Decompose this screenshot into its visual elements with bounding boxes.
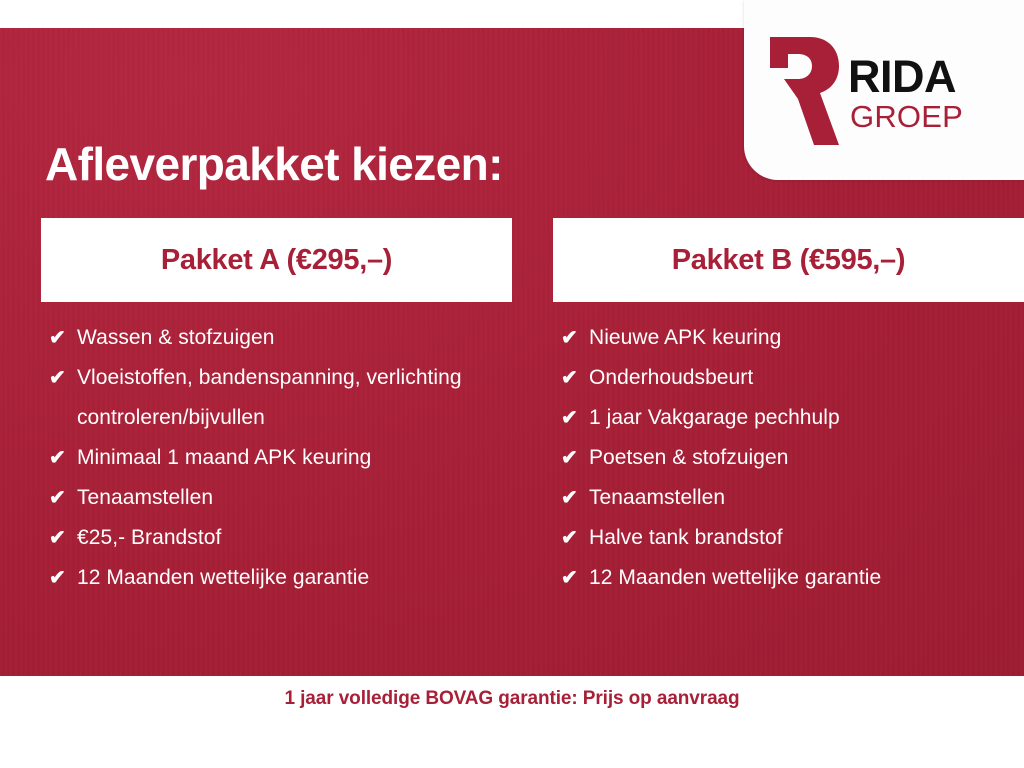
list-item: ✔ Tenaamstellen — [49, 478, 512, 518]
slide: Afleverpakket kiezen: Pakket A (€295,–) … — [0, 0, 1024, 768]
brand-subname: GROEP — [850, 101, 963, 132]
feature-label: Onderhoudsbeurt — [589, 358, 1024, 398]
feature-label: 12 Maanden wettelijke garantie — [77, 558, 512, 598]
list-item: ✔ 1 jaar Vakgarage pechhulp — [561, 398, 1024, 438]
package-column-b: Pakket B (€595,–) ✔ Nieuwe APK keuring ✔… — [553, 218, 1024, 598]
package-b-header: Pakket B (€595,–) — [553, 218, 1024, 302]
brand-wordmark: RIDA GROEP — [848, 50, 963, 132]
feature-label: Poetsen & stofzuigen — [589, 438, 1024, 478]
package-b-title: Pakket B (€595,–) — [672, 244, 906, 277]
feature-label: 1 jaar Vakgarage pechhulp — [589, 398, 1024, 438]
check-icon: ✔ — [561, 398, 589, 438]
check-icon: ✔ — [49, 438, 77, 478]
list-item: ✔ Nieuwe APK keuring — [561, 318, 1024, 358]
list-item: ✔ Wassen & stofzuigen — [49, 318, 512, 358]
check-icon: ✔ — [49, 318, 77, 358]
list-item: ✔ €25,- Brandstof — [49, 518, 512, 558]
list-item: ✔ Poetsen & stofzuigen — [561, 438, 1024, 478]
feature-label: Halve tank brandstof — [589, 518, 1024, 558]
list-item: ✔ Tenaamstellen — [561, 478, 1024, 518]
r-monogram-icon — [762, 35, 840, 147]
check-icon: ✔ — [561, 518, 589, 558]
packages-container: Pakket A (€295,–) ✔ Wassen & stofzuigen … — [0, 218, 1024, 598]
list-item: ✔ Minimaal 1 maand APK keuring — [49, 438, 512, 478]
list-item: ✔ Onderhoudsbeurt — [561, 358, 1024, 398]
feature-label: Nieuwe APK keuring — [589, 318, 1024, 358]
feature-label: Vloeistoffen, bandenspanning, verlichtin… — [77, 358, 512, 438]
feature-label: Minimaal 1 maand APK keuring — [77, 438, 512, 478]
feature-label: Tenaamstellen — [589, 478, 1024, 518]
brand-name: RIDA — [848, 54, 963, 99]
feature-label: Wassen & stofzuigen — [77, 318, 512, 358]
check-icon: ✔ — [561, 318, 589, 358]
package-b-feature-list: ✔ Nieuwe APK keuring ✔ Onderhoudsbeurt ✔… — [553, 318, 1024, 598]
brand-logo-plate: RIDA GROEP — [744, 0, 1024, 180]
check-icon: ✔ — [49, 558, 77, 598]
package-column-a: Pakket A (€295,–) ✔ Wassen & stofzuigen … — [41, 218, 512, 598]
check-icon: ✔ — [561, 438, 589, 478]
check-icon: ✔ — [49, 518, 77, 558]
package-a-header: Pakket A (€295,–) — [41, 218, 512, 302]
package-a-feature-list: ✔ Wassen & stofzuigen ✔ Vloeistoffen, ba… — [41, 318, 512, 598]
footer-banner: 1 jaar volledige BOVAG garantie: Prijs o… — [0, 676, 1024, 768]
check-icon: ✔ — [561, 558, 589, 598]
footer-text: 1 jaar volledige BOVAG garantie: Prijs o… — [284, 688, 739, 710]
check-icon: ✔ — [561, 358, 589, 398]
check-icon: ✔ — [49, 478, 77, 518]
brand-logo: RIDA GROEP — [762, 32, 1010, 150]
feature-label: €25,- Brandstof — [77, 518, 512, 558]
list-item: ✔ 12 Maanden wettelijke garantie — [49, 558, 512, 598]
check-icon: ✔ — [561, 478, 589, 518]
feature-label: 12 Maanden wettelijke garantie — [589, 558, 1024, 598]
check-icon: ✔ — [49, 358, 77, 398]
list-item: ✔ Halve tank brandstof — [561, 518, 1024, 558]
feature-label: Tenaamstellen — [77, 478, 512, 518]
package-a-title: Pakket A (€295,–) — [161, 244, 392, 277]
page-title: Afleverpakket kiezen: — [45, 137, 503, 191]
list-item: ✔ 12 Maanden wettelijke garantie — [561, 558, 1024, 598]
list-item: ✔ Vloeistoffen, bandenspanning, verlicht… — [49, 358, 512, 438]
